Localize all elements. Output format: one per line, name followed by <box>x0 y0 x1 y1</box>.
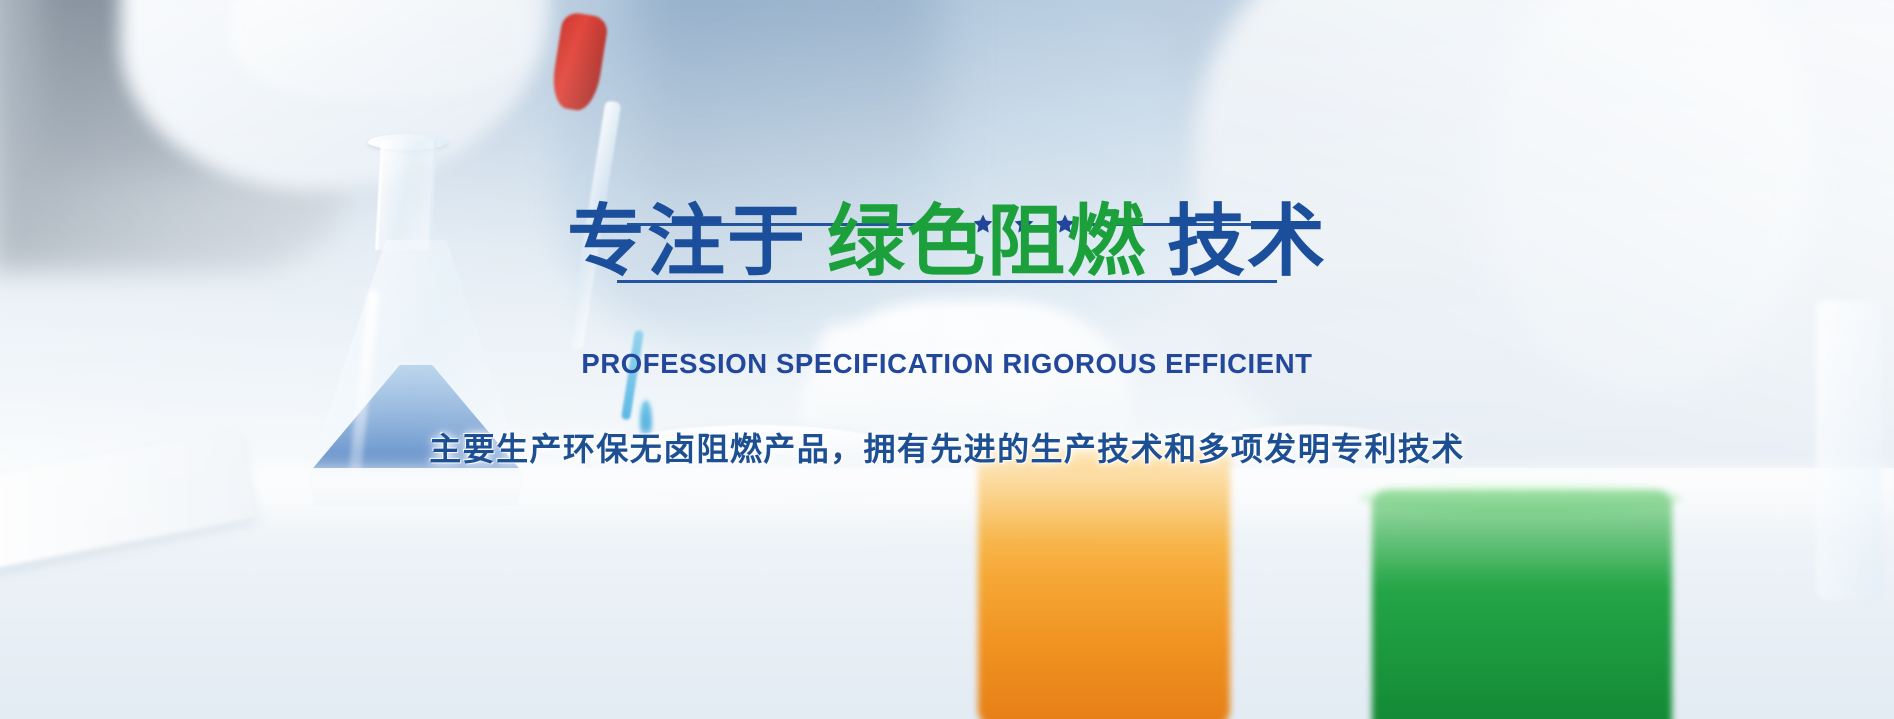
banner-headline: 专注于绿色阻燃技术 <box>567 195 1327 290</box>
headline-part-3: 技术 <box>1167 197 1327 287</box>
headline-underline <box>617 280 1277 283</box>
headline-part-1: 专注于 <box>567 197 807 287</box>
banner-tagline: 主要生产环保无卤阻燃产品，拥有先进的生产技术和多项发明专利技术 <box>429 424 1464 470</box>
headline-part-2: 绿色阻燃 <box>827 197 1147 287</box>
banner-content: 专注于绿色阻燃技术 PROFESSION SPECIFICATION RIGOR… <box>0 0 1894 719</box>
banner-subtitle: PROFESSION SPECIFICATION RIGOROUS EFFICI… <box>581 348 1312 380</box>
